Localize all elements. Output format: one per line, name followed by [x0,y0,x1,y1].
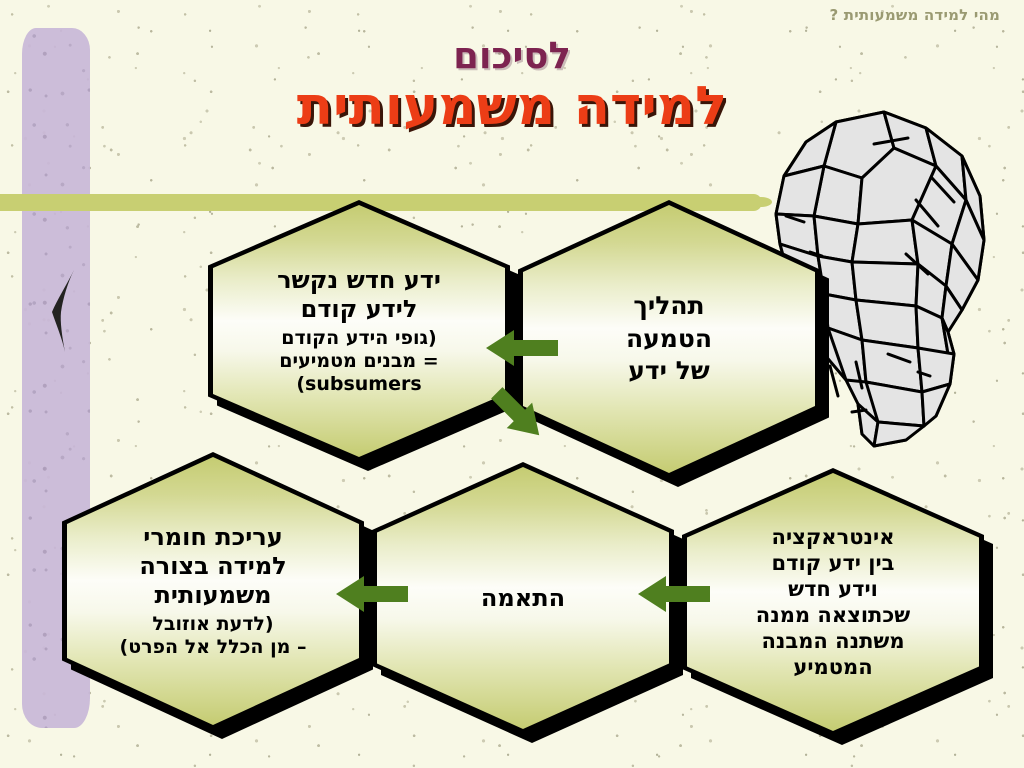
hexagon-title: עריכת חומרי למידה בצורה משמעותית [139,523,286,611]
hexagon-interaction[interactable]: אינטראקציה בין ידע קודם וידע חדש שכתוצאה… [682,468,984,736]
hexagon-assimilation[interactable]: תהליך הטמעה של ידע [518,200,820,478]
hexagon-note: (גופי הידע הקודם = מבנים מטמיעים subsume… [279,327,438,397]
header-question: מהי למידה משמעותית ? [829,6,1000,24]
chevron-left-icon [50,268,76,354]
slide-subtitle: לסיכום [0,34,1024,77]
hexagon-title: התאמה [481,584,565,612]
slide-canvas: מהי למידה משמעותית ? לסיכום למידה משמעות… [0,0,1024,768]
hexagon-title: ידע חדש נקשר לידע קודם [277,266,441,325]
page-title: למידה משמעותית [0,76,1024,137]
arrow-left-icon-interaction-to-adaptation [638,574,710,614]
arrow-left-icon-adaptation-to-editing [336,574,408,614]
hexagon-title: תהליך הטמעה של ידע [626,290,712,388]
hexagon-new-knowledge[interactable]: ידע חדש נקשר לידע קודם (גופי הידע הקודם … [208,200,510,462]
arrow-left-icon-assimilation-to-new-knowledge [486,328,558,368]
hexagon-note: (לדעת אוזובל – מן הכלל אל הפרט) [120,613,307,659]
arrow-down-right-icon-new-knowledge-to-adaptation [486,382,550,446]
hexagon-editing[interactable]: עריכת חומרי למידה בצורה משמעותית (לדעת א… [62,452,364,730]
hexagon-title: אינטראקציה בין ידע קודם וידע חדש שכתוצאה… [756,524,910,680]
hexagon-adaptation[interactable]: התאמה [372,462,674,734]
